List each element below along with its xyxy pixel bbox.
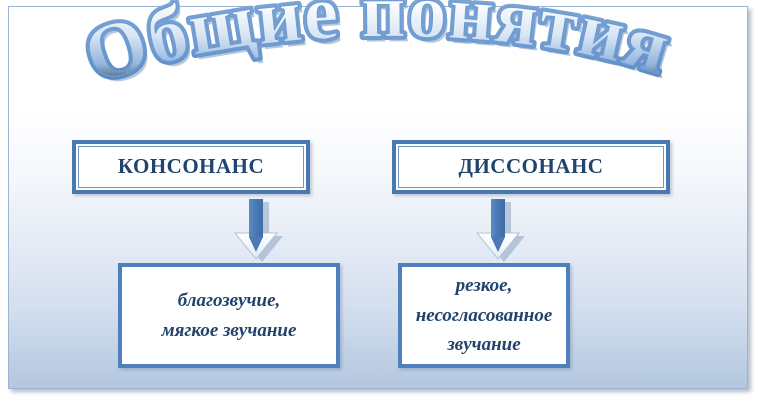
node-dissonance-definition-label: резкое, несогласованное звучание xyxy=(406,271,563,359)
definition-line: звучание xyxy=(416,330,553,359)
node-dissonance-label: ДИССОНАНС xyxy=(459,155,604,178)
definition-line: резкое, xyxy=(416,271,553,300)
node-dissonance-definition[interactable]: резкое, несогласованное звучание xyxy=(398,263,570,368)
node-dissonance[interactable]: ДИССОНАНС xyxy=(392,140,670,194)
definition-line: мягкое звучание xyxy=(162,316,297,345)
node-dissonance-inner: ДИССОНАНС xyxy=(398,146,664,188)
node-consonance-definition-label: благозвучие, мягкое звучание xyxy=(152,286,307,345)
slide: Общие понятия Общие понятия Общие поняти… xyxy=(0,0,760,401)
node-consonance-label: КОНСОНАНС xyxy=(118,155,264,178)
node-consonance-inner: КОНСОНАНС xyxy=(78,146,304,188)
definition-line: несогласованное xyxy=(416,301,553,330)
node-consonance-definition[interactable]: благозвучие, мягкое звучание xyxy=(118,263,340,368)
definition-line: благозвучие, xyxy=(162,286,297,315)
node-consonance[interactable]: КОНСОНАНС xyxy=(72,140,310,194)
